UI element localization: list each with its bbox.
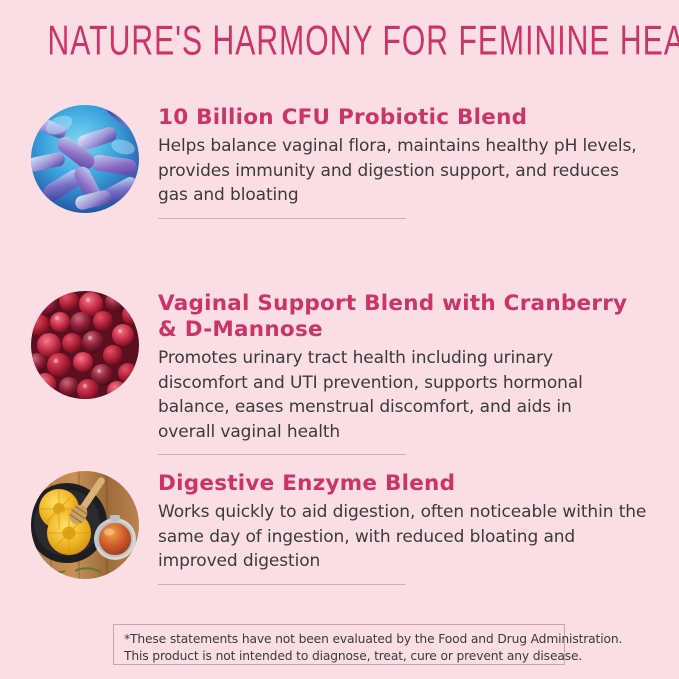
feature-description: Helps balance vaginal flora, maintains h… [158, 134, 648, 208]
feature-description: Promotes urinary tract health including … [158, 346, 628, 444]
disclaimer-line-1: *These statements have not been evaluate… [124, 631, 554, 648]
probiotic-bacteria-photo [31, 105, 139, 213]
feature-divider [158, 454, 406, 455]
feature-text-block: 10 Billion CFU Probiotic Blend Helps bal… [158, 105, 658, 219]
cranberries-photo [31, 291, 139, 399]
feature-heading: Digestive Enzyme Blend [158, 471, 658, 497]
feature-divider [158, 584, 406, 585]
feature-description: Works quickly to aid digestion, often no… [158, 500, 648, 574]
page-title: NATURE'S HARMONY FOR FEMININE HEALTH [48, 18, 632, 65]
feature-divider [158, 218, 406, 219]
fda-disclaimer-box: *These statements have not been evaluate… [113, 624, 565, 665]
feature-text-block: Vaginal Support Blend with Cranberry & D… [158, 291, 658, 455]
feature-heading: Vaginal Support Blend with Cranberry & D… [158, 291, 628, 343]
feature-text-block: Digestive Enzyme Blend Works quickly to … [158, 471, 658, 585]
feature-heading: 10 Billion CFU Probiotic Blend [158, 105, 658, 131]
pineapple-honey-photo [31, 471, 139, 579]
disclaimer-line-2: This product is not intended to diagnose… [124, 648, 554, 665]
